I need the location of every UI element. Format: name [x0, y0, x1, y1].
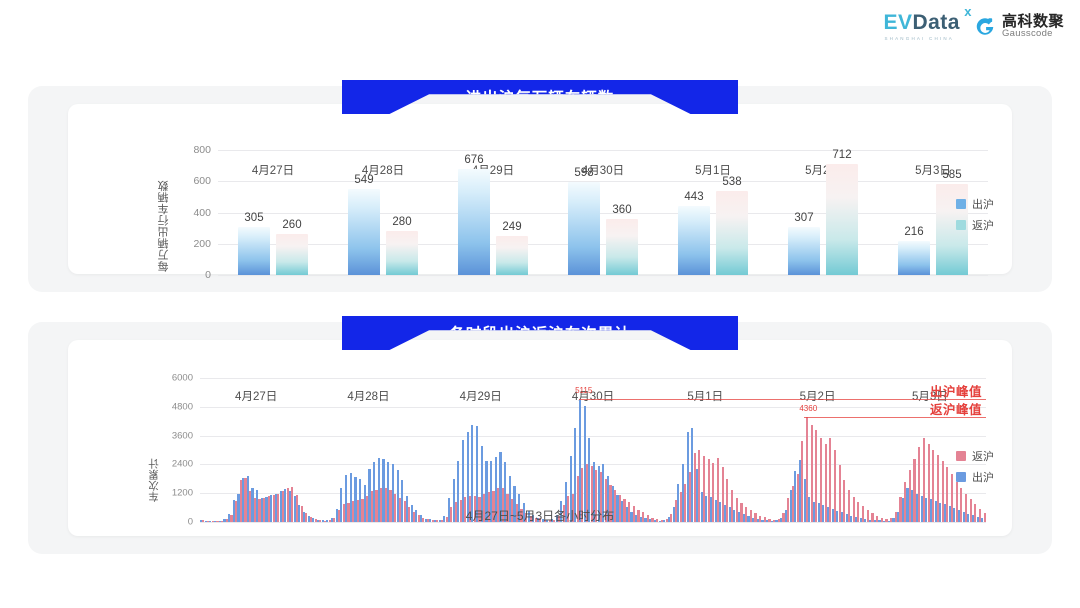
bar[interactable]: 712 [826, 164, 858, 275]
header-logos: EVData x SHANGHAI CHINA 高科数聚 Gausscode [883, 12, 1064, 41]
bar-value-label: 538 [722, 176, 741, 188]
legend-item[interactable]: 出沪 [956, 469, 994, 485]
bar[interactable]: 676 [458, 169, 490, 275]
gausscode-en-name: Gausscode [1002, 29, 1064, 39]
evdata-ev-text: EV [883, 11, 912, 34]
bar[interactable]: 216 [898, 241, 930, 275]
evdata-x-icon: x [964, 5, 972, 18]
bar-group: 598360 [548, 150, 658, 275]
chart1-card: 每万辆出行车辆数 02004006008004月27日4月28日4月29日4月3… [68, 104, 1012, 274]
slide-root: EVData x SHANGHAI CHINA 高科数聚 Gausscode 进… [0, 0, 1080, 608]
bar-value-label: 260 [282, 219, 301, 231]
bar[interactable]: 249 [496, 236, 528, 275]
gridline [218, 275, 988, 276]
y-axis-tick: 600 [193, 175, 211, 187]
bar-group: 305260 [218, 150, 328, 275]
legend-label: 返沪 [972, 217, 994, 233]
bar-value-label: 598 [574, 167, 593, 179]
bar-value-label: 443 [684, 191, 703, 203]
gausscode-logo-icon [974, 16, 996, 38]
bar[interactable]: 549 [348, 189, 380, 275]
evdata-data-text: Data [912, 11, 960, 34]
peak-value-label: 4360 [799, 404, 817, 413]
legend-swatch-icon [956, 220, 966, 230]
y-axis-tick: 4800 [172, 401, 193, 412]
chart2-legend: 返沪出沪 [956, 448, 994, 485]
y-axis-tick: 2400 [172, 459, 193, 470]
chart1-panel: 每万辆出行车辆数 02004006008004月27日4月28日4月29日4月3… [28, 86, 1052, 292]
chart1-legend: 出沪返沪 [956, 196, 994, 233]
bar-group: 676249 [438, 150, 548, 275]
bar-value-label: 712 [832, 149, 851, 161]
legend-swatch-icon [956, 472, 966, 482]
y-axis-tick: 0 [205, 269, 211, 281]
peak-value-label: 5115 [575, 386, 592, 395]
bar[interactable]: 260 [276, 234, 308, 275]
chart2-card: 车次累计 0120024003600480060004月27日4月28日4月29… [68, 340, 1012, 536]
y-axis-tick: 800 [193, 144, 211, 156]
bar[interactable]: 307 [788, 227, 820, 275]
evdata-wordmark: EVData x [883, 12, 960, 33]
bar-value-label: 585 [942, 169, 961, 181]
bar-value-label: 549 [354, 174, 373, 186]
bar-group: 549280 [328, 150, 438, 275]
legend-label: 返沪 [972, 448, 994, 464]
y-axis-tick: 400 [193, 207, 211, 219]
y-axis-tick: 1200 [172, 488, 193, 499]
chart2-x-axis-caption: 4月27日~5月3日各小时分布 [68, 507, 1012, 524]
gausscode-text: 高科数聚 Gausscode [1002, 14, 1064, 40]
gausscode-cn-name: 高科数聚 [1002, 14, 1064, 30]
legend-swatch-icon [956, 199, 966, 209]
chart2-plot-area: 0120024003600480060004月27日4月28日4月29日4月30… [200, 378, 986, 522]
bar-value-label: 249 [502, 221, 521, 233]
legend-label: 出沪 [972, 469, 994, 485]
bar[interactable]: 305 [238, 227, 270, 275]
bar-value-label: 360 [612, 204, 631, 216]
bar[interactable]: 443 [678, 206, 710, 275]
bar[interactable]: 280 [386, 231, 418, 275]
peak-annotation-label: 返沪峰值 [930, 399, 982, 418]
legend-label: 出沪 [972, 196, 994, 212]
evdata-logo: EVData x SHANGHAI CHINA [883, 12, 960, 41]
legend-item[interactable]: 返沪 [956, 448, 994, 464]
peak-annotation-label: 出沪峰值 [930, 381, 982, 400]
bar[interactable]: 360 [606, 219, 638, 275]
peak-reference-line [579, 399, 986, 400]
y-axis-tick: 6000 [172, 373, 193, 384]
legend-item[interactable]: 出沪 [956, 196, 994, 212]
bar-value-label: 307 [794, 212, 813, 224]
bar[interactable]: 598 [568, 182, 600, 275]
chart1-y-axis-label: 每万辆出行车辆数 [156, 162, 172, 272]
evdata-tagline: SHANGHAI CHINA [884, 36, 954, 41]
bar-value-label: 280 [392, 216, 411, 228]
chart1-plot-area: 02004006008004月27日4月28日4月29日4月30日5月1日5月2… [218, 150, 988, 275]
chart2-panel: 车次累计 0120024003600480060004月27日4月28日4月29… [28, 322, 1052, 554]
bar-value-label: 305 [244, 212, 263, 224]
y-axis-tick: 3600 [172, 430, 193, 441]
bar-group: 307712 [768, 150, 878, 275]
bar-value-label: 216 [904, 226, 923, 238]
y-axis-tick: 200 [193, 238, 211, 250]
bar-value-label: 676 [464, 154, 483, 166]
bar-group: 443538 [658, 150, 768, 275]
gausscode-logo: 高科数聚 Gausscode [974, 14, 1064, 40]
legend-swatch-icon [956, 451, 966, 461]
chart2-y-axis-label: 车次累计 [146, 402, 161, 502]
legend-item[interactable]: 返沪 [956, 217, 994, 233]
bar[interactable]: 538 [716, 191, 748, 275]
